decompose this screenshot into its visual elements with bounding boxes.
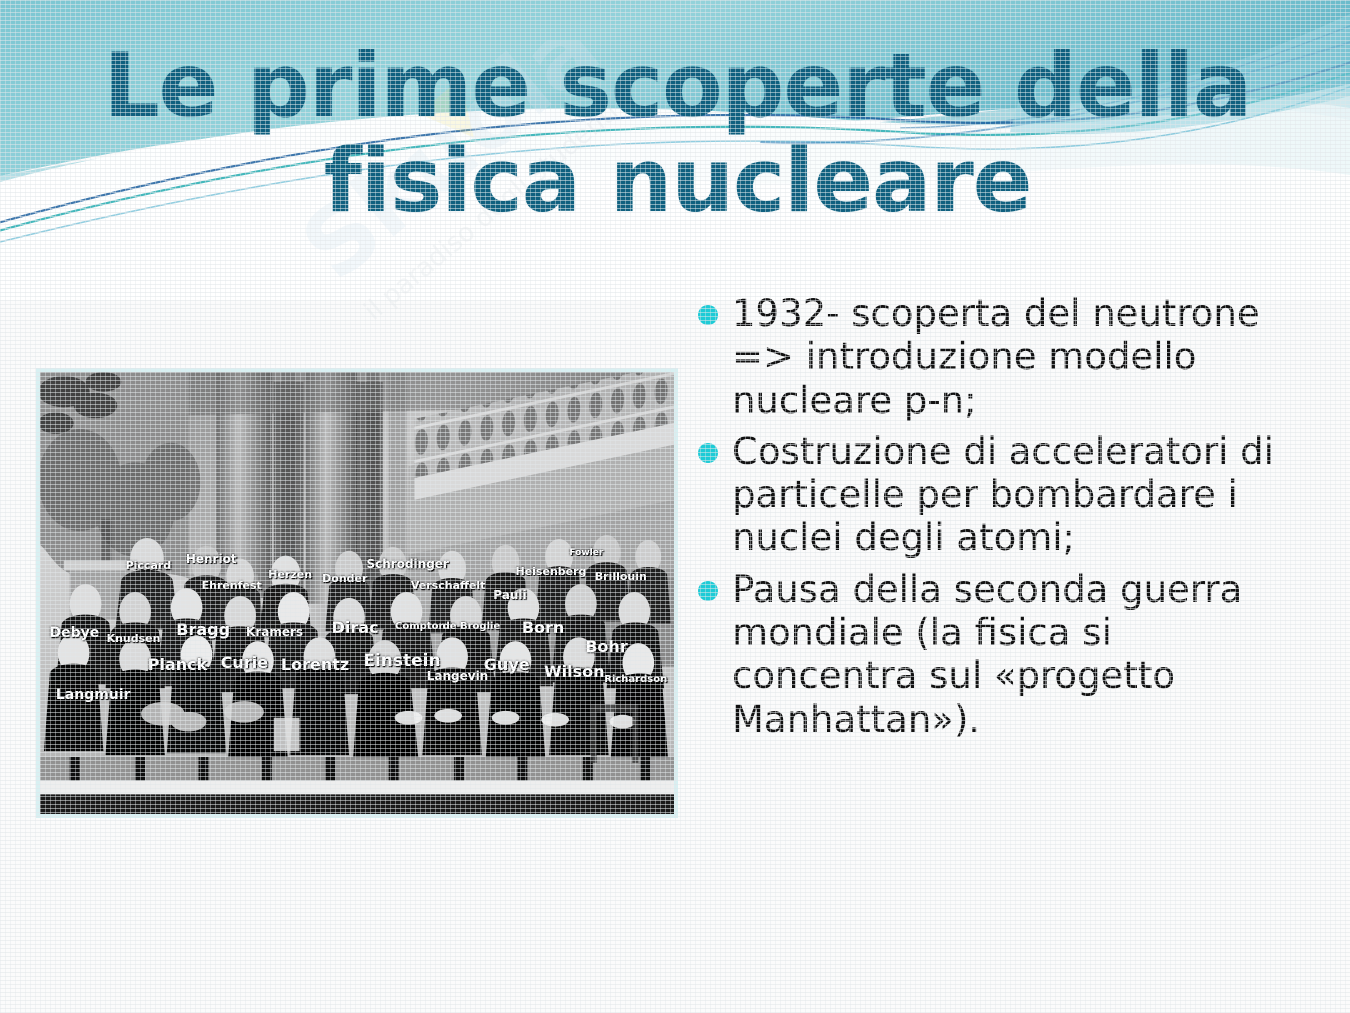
page-title: Le prime scoperte della fisica nucleare <box>40 38 1315 228</box>
list-item-text: Pausa della seconda guerra mondiale (la … <box>732 568 1242 741</box>
solvay-conference-photo: PiccardHenriotEhrenfestHerzenDonderSchro… <box>36 368 678 818</box>
list-item: 1932- scoperta del neutrone => introduzi… <box>694 292 1284 422</box>
bullet-list: 1932- scoperta del neutrone => introduzi… <box>694 292 1284 749</box>
list-item-text: Costruzione di acceleratori di particell… <box>732 430 1274 560</box>
photo-canvas: PiccardHenriotEhrenfestHerzenDonderSchro… <box>40 372 674 814</box>
bullet-dot-icon <box>698 305 718 325</box>
list-item-text: 1932- scoperta del neutrone => introduzi… <box>732 292 1260 422</box>
bullet-dot-icon <box>698 443 718 463</box>
bullet-dot-icon <box>698 581 718 601</box>
title-block: Le prime scoperte della fisica nucleare <box>40 38 1315 228</box>
list-item: Pausa della seconda guerra mondiale (la … <box>694 568 1284 741</box>
list-item: Costruzione di acceleratori di particell… <box>694 430 1284 560</box>
slide: Skuola il paradiso degli studenti Le pri… <box>0 0 1350 1013</box>
